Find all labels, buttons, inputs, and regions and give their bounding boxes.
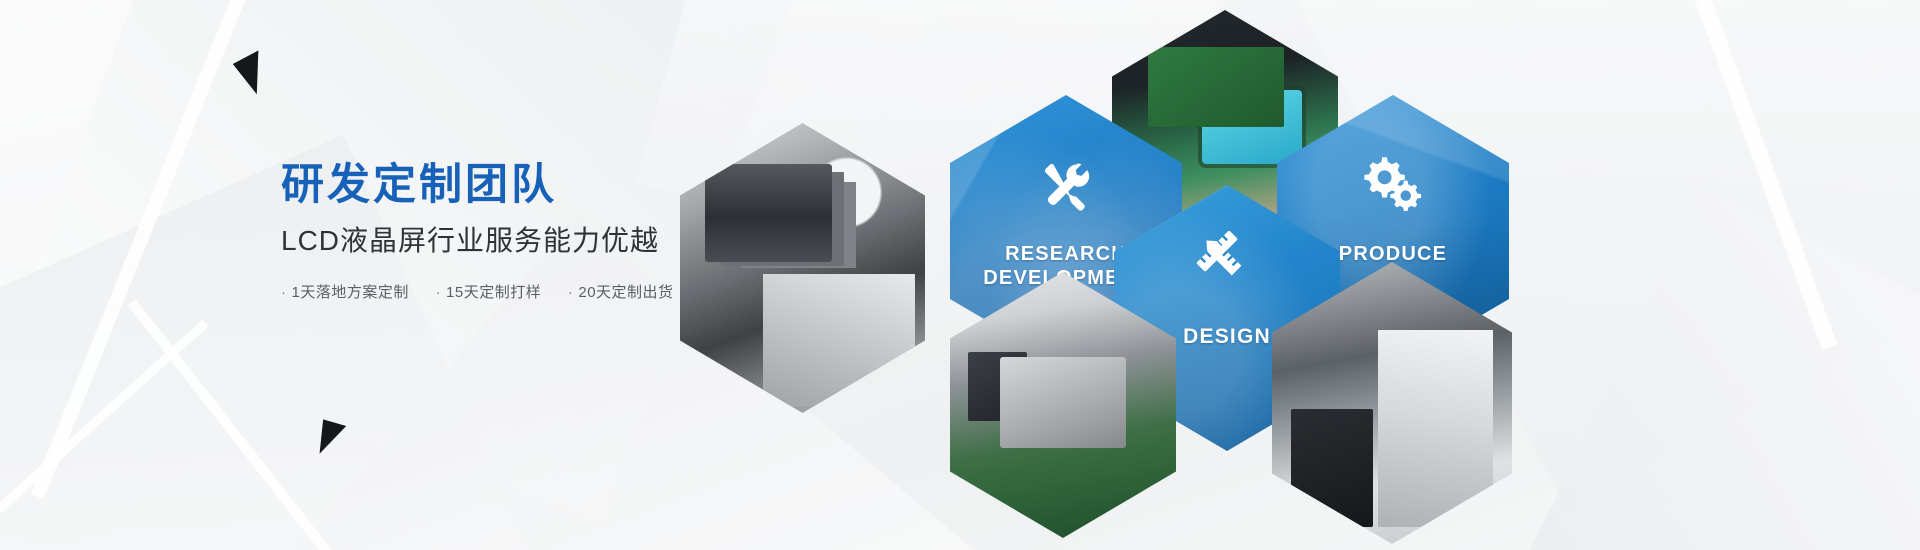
list-item: ·15天定制打样 bbox=[436, 284, 546, 301]
bullet-dot-icon: · bbox=[568, 284, 574, 301]
background-facet-6 bbox=[1477, 190, 1920, 550]
list-item: ·20天定制出货 bbox=[568, 284, 674, 301]
background-streak-3 bbox=[1679, 0, 1838, 350]
gears-icon bbox=[1277, 153, 1509, 211]
background-streak-2 bbox=[128, 299, 382, 550]
list-item-label: 15天定制打样 bbox=[446, 284, 541, 301]
dark-triangle-accent-top bbox=[233, 50, 276, 97]
bullet-dot-icon: · bbox=[281, 284, 287, 301]
dark-triangle-accent-bottom bbox=[314, 419, 346, 458]
hero-banner: 研发定制团队 LCD液晶屏行业服务能力优越 ·1天落地方案定制 ·15天定制打样… bbox=[0, 0, 1920, 550]
background-streak-4 bbox=[0, 320, 209, 550]
list-item-label: 20天定制出货 bbox=[578, 284, 673, 301]
background-streak-1 bbox=[31, 0, 284, 499]
list-item: ·1天落地方案定制 bbox=[281, 284, 414, 301]
list-item-label: 1天落地方案定制 bbox=[292, 284, 409, 301]
bullet-dot-icon: · bbox=[436, 284, 442, 301]
pencil-ruler-icon bbox=[1114, 231, 1340, 291]
wrench-screwdriver-icon bbox=[950, 157, 1182, 213]
